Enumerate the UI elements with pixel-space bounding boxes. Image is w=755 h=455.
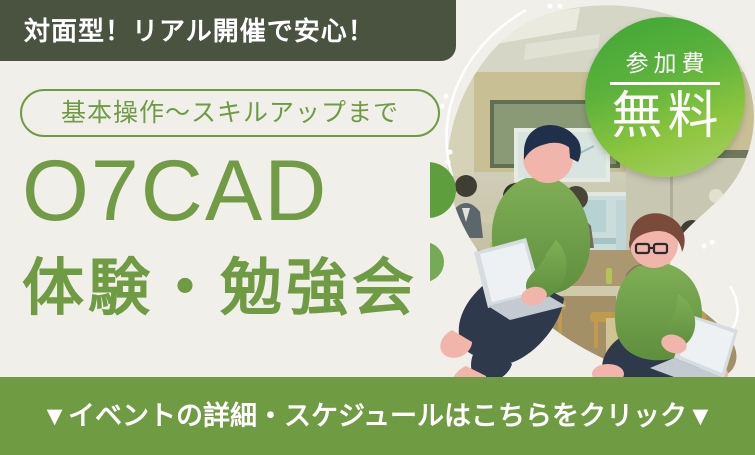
free-badge-value: 無料 [606, 89, 723, 143]
cta-bar[interactable]: ▼イベントの詳細・スケジュールはこちらをクリック▼ [0, 377, 755, 455]
page-subtitle: 体験・勉強会 [22, 258, 418, 320]
cta-text: ▼イベントの詳細・スケジュールはこちらをクリック▼ [41, 403, 714, 430]
accent-circle-small [430, 242, 444, 282]
free-badge: 参加費 無料 [585, 17, 745, 177]
page-title: O7CAD [22, 148, 328, 234]
free-badge-label: 参加費 [621, 52, 710, 75]
header-ribbon-text: 対面型！リアル開催で安心！ [24, 18, 375, 44]
header-ribbon: 対面型！リアル開催で安心！ [0, 0, 456, 61]
subtitle-pill-text: 基本操作〜スキルアップまで [61, 101, 399, 126]
free-badge-divider [610, 82, 720, 85]
subtitle-pill: 基本操作〜スキルアップまで [20, 89, 440, 137]
event-banner: 対面型！リアル開催で安心！ 基本操作〜スキルアップまで O7CAD 体験・勉強会… [0, 0, 755, 455]
